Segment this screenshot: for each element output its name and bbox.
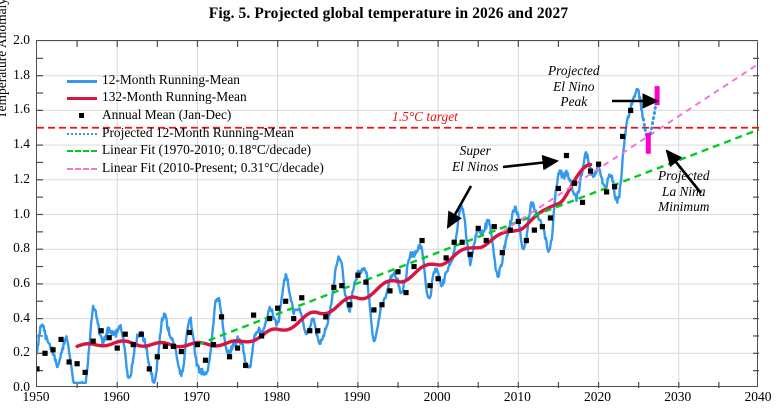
annual-mean-marker	[476, 226, 481, 231]
annual-mean-marker	[580, 200, 585, 205]
annual-mean-marker	[620, 134, 625, 139]
annotation-projected-la-nina-minimum: ProjectedLa NinaMinimum	[658, 168, 710, 215]
annotation-line: Minimum	[658, 199, 710, 215]
legend-item-4[interactable]: Linear Fit (1970-2010; 0.18°C/decade)	[64, 141, 364, 159]
legend-item-0[interactable]: 12-Month Running-Mean	[64, 71, 364, 89]
annual-mean-marker	[227, 354, 232, 359]
annual-mean-marker	[171, 344, 176, 349]
legend-item-3[interactable]: Projected 12-Month Running-Mean	[64, 124, 364, 142]
annual-mean-marker	[139, 332, 144, 337]
annual-mean-marker	[251, 313, 256, 318]
annotation-line: El Ninos	[452, 159, 499, 175]
legend-label: 132-Month Running-Mean	[100, 89, 247, 105]
annual-mean-marker	[604, 189, 609, 194]
annual-mean-marker	[211, 342, 216, 347]
legend-symbol-solid-line	[64, 90, 100, 104]
y-tick-1.4: 1.4	[0, 136, 30, 152]
figure-root: Fig. 5. Projected global temperature in …	[0, 0, 777, 418]
annual-mean-marker	[147, 366, 152, 371]
legend-label: Linear Fit (1970-2010; 0.18°C/decade)	[100, 142, 311, 158]
annual-mean-marker	[291, 316, 296, 321]
annual-mean-marker	[460, 240, 465, 245]
legend-label: 12-Month Running-Mean	[100, 72, 240, 88]
legend-symbol-dotted-line	[64, 126, 100, 140]
annual-mean-marker	[187, 330, 192, 335]
annual-mean-marker	[436, 276, 441, 281]
annual-mean-marker	[339, 283, 344, 288]
annotation-line: Projected	[548, 63, 600, 79]
annual-mean-marker	[419, 238, 424, 243]
annotation-super-el-ninos: SuperEl Ninos	[452, 143, 499, 174]
legend-label: Projected 12-Month Running-Mean	[100, 125, 294, 141]
annual-mean-marker	[564, 153, 569, 158]
annual-mean-marker	[75, 361, 80, 366]
x-tick-1960: 1960	[86, 389, 146, 405]
annual-mean-marker	[315, 328, 320, 333]
annual-mean-marker	[243, 363, 248, 368]
annotation-line: Super	[452, 143, 499, 159]
y-tick-0.8: 0.8	[0, 240, 30, 256]
annual-mean-marker	[123, 332, 128, 337]
annual-mean-marker	[259, 333, 264, 338]
annual-mean-marker	[508, 228, 513, 233]
legend-label: Annual Mean (Jan-Dec)	[100, 107, 231, 123]
legend-symbol-solid-line	[64, 73, 100, 87]
annual-mean-marker	[379, 302, 384, 307]
annual-mean-marker	[195, 342, 200, 347]
annual-mean-marker	[524, 238, 529, 243]
legend-symbol-dashed-line	[64, 143, 100, 157]
series-linear-fit-2010-present	[502, 64, 759, 232]
annotation-line: 1.5°C target	[392, 109, 458, 125]
y-tick-1.0: 1.0	[0, 206, 30, 222]
annual-mean-marker	[612, 184, 617, 189]
y-tick-2.0: 2.0	[0, 32, 30, 48]
annual-mean-marker	[363, 280, 368, 285]
annual-mean-marker	[307, 328, 312, 333]
x-tick-2020: 2020	[568, 389, 628, 405]
y-tick-0.6: 0.6	[0, 275, 30, 291]
arrow-super-el-ninos-left	[448, 186, 471, 227]
annual-mean-marker	[532, 228, 537, 233]
arrow-super-el-ninos-right	[503, 161, 557, 167]
annotation-line: Peak	[548, 94, 600, 110]
legend: 12-Month Running-Mean132-Month Running-M…	[64, 71, 364, 177]
annotation-target-label: 1.5°C target	[392, 109, 458, 125]
annual-mean-marker	[58, 337, 63, 342]
x-tick-2030: 2030	[648, 389, 708, 405]
x-tick-2040: 2040	[728, 389, 777, 405]
annual-mean-marker	[347, 302, 352, 307]
annual-mean-marker	[628, 108, 633, 113]
annual-mean-marker	[42, 351, 47, 356]
x-tick-1990: 1990	[327, 389, 387, 405]
annual-mean-marker	[484, 238, 489, 243]
series-132-month-running-mean	[77, 165, 590, 347]
annual-mean-marker	[267, 316, 272, 321]
legend-symbol-square-marker	[64, 108, 100, 122]
annual-mean-marker	[131, 342, 136, 347]
annual-mean-marker	[444, 255, 449, 260]
legend-label: Linear Fit (2010-Present; 0.31°C/decade)	[100, 160, 324, 176]
annual-mean-marker	[492, 224, 497, 229]
annual-mean-marker	[66, 359, 71, 364]
annual-mean-marker	[275, 306, 280, 311]
annual-mean-marker	[331, 285, 336, 290]
annual-mean-marker	[283, 299, 288, 304]
annual-mean-marker	[99, 328, 104, 333]
y-tick-0.2: 0.2	[0, 344, 30, 360]
y-tick-1.2: 1.2	[0, 171, 30, 187]
annual-mean-marker	[548, 215, 553, 220]
y-tick-1.6: 1.6	[0, 101, 30, 117]
annual-mean-marker	[468, 252, 473, 257]
legend-symbol-dashed-line	[64, 161, 100, 175]
annotation-line: La Nina	[658, 184, 710, 200]
figure-title: Fig. 5. Projected global temperature in …	[0, 5, 777, 23]
x-tick-1980: 1980	[247, 389, 307, 405]
annual-mean-marker	[540, 224, 545, 229]
annual-mean-marker	[37, 366, 40, 371]
annual-mean-marker	[572, 181, 577, 186]
legend-item-5[interactable]: Linear Fit (2010-Present; 0.31°C/decade)	[64, 159, 364, 177]
annual-mean-marker	[323, 314, 328, 319]
legend-item-1[interactable]: 132-Month Running-Mean	[64, 89, 364, 107]
y-tick-1.8: 1.8	[0, 67, 30, 83]
annual-mean-marker	[411, 264, 416, 269]
annual-mean-marker	[588, 169, 593, 174]
x-tick-2000: 2000	[407, 389, 467, 405]
annual-mean-marker	[83, 370, 88, 375]
annual-mean-marker	[355, 273, 360, 278]
y-tick-0.4: 0.4	[0, 310, 30, 326]
annotation-line: Projected	[658, 168, 710, 184]
annual-mean-marker	[107, 335, 112, 340]
annual-mean-marker	[395, 269, 400, 274]
legend-item-2[interactable]: Annual Mean (Jan-Dec)	[64, 106, 364, 124]
annual-mean-marker	[299, 295, 304, 300]
x-tick-1970: 1970	[166, 389, 226, 405]
annual-mean-marker	[155, 354, 160, 359]
annotation-projected-el-nino-peak: ProjectedEl NinoPeak	[548, 63, 600, 110]
annual-mean-marker	[596, 162, 601, 167]
annual-mean-marker	[179, 349, 184, 354]
annual-mean-marker	[203, 358, 208, 363]
annual-mean-marker	[219, 314, 224, 319]
annual-mean-marker	[452, 240, 457, 245]
annual-mean-marker	[500, 250, 505, 255]
annual-mean-marker	[387, 288, 392, 293]
annual-mean-marker	[163, 344, 168, 349]
annual-mean-marker	[516, 219, 521, 224]
annual-mean-marker	[235, 345, 240, 350]
annotation-line: El Nino	[548, 79, 600, 95]
annual-mean-marker	[115, 345, 120, 350]
x-tick-1950: 1950	[6, 389, 66, 405]
x-tick-2010: 2010	[487, 389, 547, 405]
annual-mean-marker	[403, 290, 408, 295]
annual-mean-marker	[91, 339, 96, 344]
annual-mean-marker	[427, 283, 432, 288]
annual-mean-marker	[556, 186, 561, 191]
annual-mean-marker	[50, 347, 55, 352]
annual-mean-marker	[371, 307, 376, 312]
